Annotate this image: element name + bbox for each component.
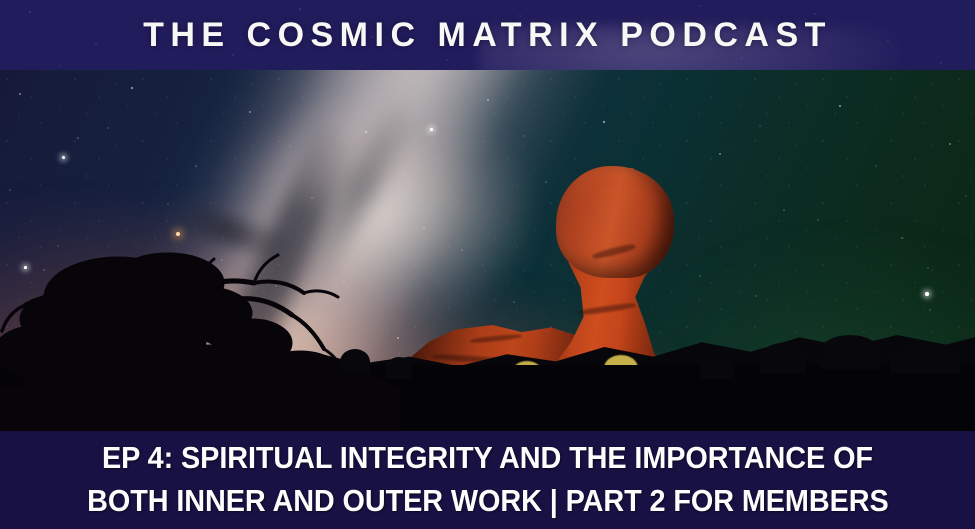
brush-clump bbox=[820, 335, 880, 369]
brush-clump bbox=[760, 343, 806, 373]
episode-title-line-2: BOTH INNER AND OUTER WORK | PART 2 FOR M… bbox=[87, 480, 888, 523]
bright-star-right bbox=[925, 292, 929, 296]
episode-title-banner: EP 4: SPIRITUAL INTEGRITY AND THE IMPORT… bbox=[0, 431, 975, 529]
brush-clump bbox=[386, 357, 412, 379]
episode-title-line-1: EP 4: SPIRITUAL INTEGRITY AND THE IMPORT… bbox=[102, 437, 873, 480]
show-title: THE COSMIC MATRIX PODCAST bbox=[0, 18, 975, 52]
bright-star-left-low bbox=[24, 266, 27, 269]
episode-artwork-photo bbox=[0, 70, 975, 431]
brush-clump bbox=[340, 349, 370, 375]
brush-clump bbox=[700, 355, 734, 379]
podcast-episode-thumbnail: THE COSMIC MATRIX PODCAST bbox=[0, 0, 975, 529]
foreground-dark-floor bbox=[0, 365, 975, 431]
show-title-banner: THE COSMIC MATRIX PODCAST bbox=[0, 0, 975, 70]
bright-star-upper-left bbox=[62, 156, 65, 159]
bright-star-upper-mid bbox=[430, 128, 433, 131]
balanced-rock-caprock bbox=[556, 166, 674, 278]
brush-clump bbox=[890, 343, 960, 373]
bright-star-antares bbox=[176, 232, 180, 236]
